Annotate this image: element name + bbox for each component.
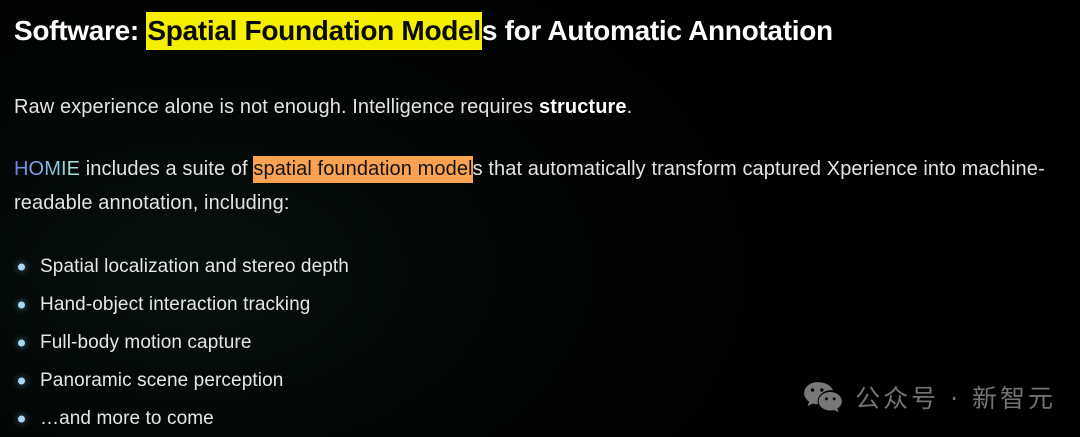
list-item-label: Hand-object interaction tracking — [40, 292, 310, 318]
paragraph-2-highlight-orange: spatial foundation model — [253, 156, 472, 183]
bullet-dot-icon — [18, 264, 25, 271]
bullet-dot-icon — [18, 340, 25, 347]
watermark-text: 公众号 · 新智元 — [855, 379, 1056, 415]
slide-canvas: Software: Spatial Foundation Models for … — [0, 0, 1080, 437]
list-item-label: Full-body motion capture — [40, 330, 252, 356]
paragraph-intelligence-requires-structure: Raw experience alone is not enough. Inte… — [14, 90, 632, 124]
title-suffix: s for Automatic Annotation — [482, 15, 833, 46]
watermark: 公众号 · 新智元 — [803, 379, 1056, 415]
list-item: …and more to come — [14, 400, 349, 437]
paragraph-1-lead: Raw experience alone is not enough. Inte… — [14, 96, 539, 118]
paragraph-2-before: includes a suite of — [80, 158, 253, 180]
title-highlight-yellow: Spatial Foundation Model — [146, 12, 481, 50]
list-item-label: Spatial localization and stereo depth — [40, 254, 349, 280]
bullet-dot-icon — [18, 302, 25, 309]
list-item: Full-body motion capture — [14, 324, 349, 362]
page-title: Software: Spatial Foundation Models for … — [14, 12, 833, 50]
list-item: Spatial localization and stereo depth — [14, 248, 349, 286]
list-item: Hand-object interaction tracking — [14, 286, 349, 324]
list-item-label: Panoramic scene perception — [40, 368, 283, 394]
bullet-dot-icon — [18, 378, 25, 385]
bullet-dot-icon — [18, 416, 25, 423]
title-prefix: Software: — [14, 15, 146, 46]
paragraph-1-bold-structure: structure — [539, 96, 627, 118]
wechat-icon — [803, 380, 843, 414]
feature-list: Spatial localization and stereo depth Ha… — [14, 248, 349, 437]
paragraph-1-tail: . — [627, 96, 633, 118]
paragraph-homie-models: HOMIE includes a suite of spatial founda… — [14, 152, 1074, 220]
homie-link[interactable]: HOMIE — [14, 158, 80, 180]
list-item: Panoramic scene perception — [14, 362, 349, 400]
list-item-label: …and more to come — [40, 406, 214, 432]
